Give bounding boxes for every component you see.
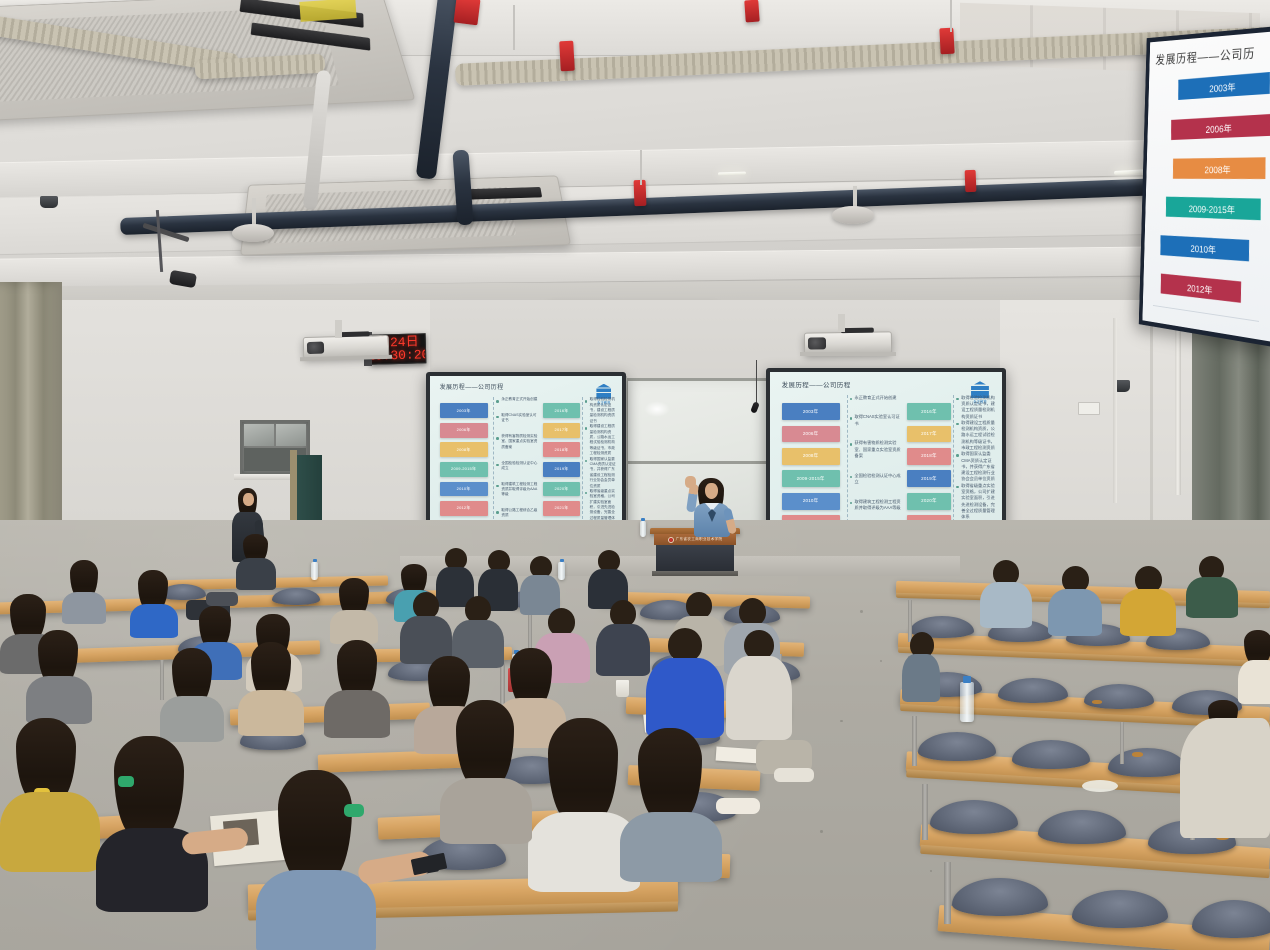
microphone-wire [756, 360, 757, 404]
floor-speckle [860, 610, 863, 613]
student [646, 628, 724, 738]
ceiling-fan-right[interactable] [832, 206, 874, 224]
student [236, 534, 276, 588]
desk-crumb [1132, 752, 1143, 757]
student [1048, 566, 1102, 636]
desk-leg [912, 716, 917, 766]
student [26, 630, 92, 722]
student [1238, 630, 1270, 700]
student [62, 560, 106, 622]
projector-mount-right [838, 314, 845, 332]
student-body [646, 658, 724, 738]
floor-speckle [880, 660, 882, 662]
student-body [0, 792, 100, 872]
slide-point: 取得检验检测机构资质认定证书，建设工程质量检测机构资质证书 [956, 395, 997, 420]
timeline-bar: 2009-2015年 [782, 470, 840, 487]
floor-speckle [820, 830, 823, 833]
assistant-face [243, 493, 254, 506]
student-body [902, 654, 940, 702]
student [324, 640, 390, 736]
pipe-clamp-red [965, 170, 977, 192]
bottle-cap [641, 518, 645, 521]
ceiling-fan-rod-left [252, 198, 256, 226]
wall-timeline-bar: 2012年 [1161, 274, 1241, 303]
litter-tissue [1082, 780, 1118, 792]
wall-timeline-bar: 2009-2015年 [1166, 197, 1261, 221]
slide-point: 取得建筑工程检测工程资质并取得评级为AAA等级 [850, 499, 903, 512]
timeline-bar: 2017年 [907, 426, 951, 443]
slide-left-bars: 2003年 2006年 2008年 2009-2015年 2010年 2012年 [440, 403, 488, 515]
slide-point: 取得省级重点实验室资格，公司扩建实验室面积，引进先进检测设备，完善全过程质量管理… [956, 483, 997, 521]
student [238, 642, 304, 734]
timeline-bar: 2006年 [782, 426, 840, 443]
slide-point: 取得国家认监委CMA资质认定证书，并获得广东省建设工程检测行业协会会员单位资质 [585, 457, 618, 489]
student [400, 592, 452, 664]
slide-point: 取得建筑工程检测工程资质并取得评级为AAA等级 [496, 482, 539, 498]
slide-point: 取得建设工程质量检测机构资质，公路水运工程试验检测机构等级证书，市政工程检测资质 [956, 420, 997, 451]
presenter-face [705, 483, 718, 499]
podium-body [656, 545, 734, 571]
projector-mount-left [335, 320, 342, 338]
desk-crumb [1092, 700, 1102, 704]
timeline-bar: 2020年 [907, 493, 951, 510]
pipe-clamp-red [559, 41, 575, 72]
student [130, 570, 178, 636]
paper-cup[interactable] [616, 680, 629, 697]
timeline-bar: 2009-2015年 [440, 462, 488, 477]
desk-leg [944, 862, 951, 924]
student-shoe [716, 798, 760, 814]
student [980, 560, 1032, 628]
timeline-bar: 2006年 [440, 423, 488, 438]
floor-speckle [840, 720, 843, 722]
student-body [1048, 589, 1102, 636]
pipe-hanger [640, 150, 642, 185]
slide-point: 获得有害物质检测实验室、国家重点实验室资质备案 [496, 434, 539, 450]
wall-conduit-left [1113, 318, 1117, 503]
timeline-bar: 2018年 [543, 442, 579, 457]
paper-sheet[interactable] [716, 746, 761, 763]
pipe-clamp-red [744, 0, 760, 22]
slide-point: 全国检验检测认证中心成立 [850, 473, 903, 486]
slide-point: 取得检验检测机构资质认定证书，建设工程质量检测机构资质证书 [585, 397, 618, 424]
slide-right-bars: 2016年 2017年 2018年 2019年 2020年 2021年 [543, 403, 579, 515]
timeline-bar: 2017年 [543, 423, 579, 438]
slide-left-points: 永正教育正式开始创建 取得CNAS实验室认可证书 获得有害物质检测实验室、国家重… [493, 397, 539, 519]
timeline-bar: 2016年 [543, 403, 579, 418]
pipe-clamp-red [939, 28, 954, 55]
student [726, 630, 792, 738]
projection-screen-left[interactable]: 发展历程——公司历程 永正教育 2003年 2006年 2008年 2009-2… [426, 372, 626, 532]
student-body [62, 592, 106, 624]
timeline-bar: 2008年 [782, 448, 840, 465]
timeline-bar: 2019年 [907, 470, 951, 487]
projector-cables [841, 327, 874, 333]
student [716, 788, 772, 828]
handbag[interactable] [206, 592, 238, 606]
student-hair [548, 718, 618, 822]
student [756, 740, 812, 784]
window-pane [276, 424, 306, 446]
projector-lens-icon [307, 341, 324, 354]
slide-point: 取得CNAS实验室认可证书 [850, 414, 903, 427]
wall-display-footer-line [1153, 305, 1259, 322]
presenter-at-podium [676, 478, 746, 540]
presenter-raised-hand [685, 476, 696, 488]
seat[interactable] [272, 588, 320, 605]
slide-point: 永正教育正式开始创建 [850, 395, 903, 401]
wall-display-title: 发展历程——公司历 [1155, 43, 1255, 68]
student [0, 718, 100, 868]
student-head [548, 608, 575, 636]
timeline-bar: 2008年 [440, 442, 488, 457]
student-body [1180, 718, 1270, 838]
student-head [465, 596, 491, 623]
student-hair [1244, 630, 1270, 664]
desk-leg [1120, 722, 1124, 764]
hair-clip-green [118, 776, 134, 787]
student-body [330, 610, 378, 644]
student-head [413, 592, 439, 619]
student-body [596, 624, 650, 676]
bottle-cap [963, 676, 971, 683]
student [1180, 718, 1270, 838]
ac-vent [460, 187, 542, 200]
student [620, 728, 722, 878]
slide-left: 发展历程——公司历程 永正教育 2003年 2006年 2008年 2009-2… [430, 376, 622, 528]
student-head [668, 628, 702, 662]
student-body [1120, 589, 1176, 636]
slide-left-points: 永正教育正式开始创建 取得CNAS实验室认可证书 获得有害物质检测实验室、国家重… [847, 395, 903, 538]
slide-point: 获得有害物质检测实验室、国家重点实验室资质备案 [850, 440, 903, 459]
motion-sensor-icon [40, 196, 58, 208]
podium-base [652, 571, 738, 576]
timeline-bar: 2012年 [440, 501, 488, 516]
timeline-bar: 2010年 [440, 482, 488, 497]
student-body [324, 690, 390, 738]
student-body [620, 812, 722, 882]
student [96, 736, 208, 906]
slide-left-bars: 2003年 2006年 2008年 2009-2015年 2010年 2012年 [782, 403, 840, 532]
wall-timeline-bar: 2006年 [1171, 114, 1270, 140]
slide-title: 发展历程——公司历程 [440, 382, 504, 391]
student [256, 770, 376, 950]
slide-point: 全国检验检测认证中心成立 [496, 461, 539, 472]
slide-right-points: 取得检验检测机构资质认定证书，建设工程质量检测机构资质证书 取得建设工程质量检测… [582, 397, 618, 519]
student [330, 578, 378, 642]
timeline-bar: 2003年 [782, 403, 840, 420]
wall-timeline-bar: 2003年 [1178, 72, 1270, 100]
projector-shelf-right [800, 352, 896, 356]
slide-right-points: 取得检验检测机构资质认定证书，建设工程质量检测机构资质证书 取得建设工程质量检测… [953, 395, 997, 538]
ceiling [0, 0, 1270, 330]
timeline-bar: 2018年 [907, 448, 951, 465]
slide-point: 取得CNAS实验室认可证书 [496, 413, 539, 424]
wall-timeline-bar: 2010年 [1160, 235, 1249, 261]
whiteboard-glare [644, 401, 670, 417]
student [440, 700, 532, 840]
timeline-bar: 2020年 [543, 482, 579, 497]
slide-title: 发展历程——公司历程 [782, 379, 851, 389]
university-crest-icon [668, 537, 674, 543]
timeline-bar: 2016年 [907, 403, 951, 420]
wall-outlet[interactable] [1078, 402, 1100, 415]
student-body [980, 582, 1032, 628]
wall-timeline-bar: 2008年 [1173, 157, 1266, 179]
student-body [726, 656, 792, 740]
student-head [610, 600, 636, 627]
student-shoe [774, 768, 814, 782]
student-head [686, 592, 712, 619]
student-body [1238, 660, 1270, 704]
student-body [1186, 577, 1238, 618]
student-body [238, 690, 304, 736]
timeline-bar: 2003年 [440, 403, 488, 418]
wall-display-surface: 发展历程——公司历 2003年 2006年 2008年 2009-2015年 2… [1142, 31, 1270, 342]
desk-leg [922, 784, 928, 840]
wall-display-bars: 2003年 2006年 2008年 2009-2015年 2010年 2012年 [1153, 73, 1270, 307]
student [520, 556, 560, 614]
student-hair [278, 770, 352, 882]
bottle-cap [560, 559, 564, 562]
timeline-bar: 2021年 [543, 501, 579, 516]
slide-point: 取得公路工程综合乙级资质 [496, 508, 539, 519]
slide-right-bars: 2016年 2017年 2018年 2019年 2020年 2021年 [907, 403, 951, 532]
classroom-scene: 发展历程——公司历程 永正教育 2003年 2006年 2008年 2009-2… [0, 0, 1270, 950]
pipe-hanger [513, 5, 515, 50]
window-pane [244, 424, 274, 446]
projector-lens-icon [808, 337, 825, 350]
water-bottle[interactable] [960, 682, 974, 722]
ceiling-fan-left[interactable] [232, 224, 274, 242]
wall-display-panel[interactable]: 发展历程——公司历 2003年 2006年 2008年 2009-2015年 2… [1139, 25, 1270, 347]
student [902, 632, 940, 702]
pipe-hanger [950, 0, 952, 32]
student-body [236, 558, 276, 590]
water-bottle[interactable] [640, 521, 646, 537]
student [596, 600, 650, 676]
whiteboard-divider [628, 461, 770, 464]
student-body [440, 778, 532, 844]
ceiling-fan-rod-right [853, 186, 857, 208]
floor-speckle [930, 870, 932, 872]
student-body [256, 870, 376, 950]
timeline-bar: 2019年 [543, 462, 579, 477]
water-bottle[interactable] [311, 562, 318, 580]
student-body [26, 676, 92, 724]
student [1186, 556, 1238, 618]
student-hair [638, 728, 702, 820]
student [160, 648, 224, 740]
student-body [130, 604, 178, 638]
timeline-bar: 2010年 [782, 493, 840, 510]
slide-point: 永正教育正式开始创建 [496, 397, 539, 402]
student-head [739, 598, 766, 626]
hair-clip-green [344, 804, 364, 817]
student [1120, 566, 1176, 636]
pipe-clamp-red [454, 0, 481, 25]
bottle-cap [313, 559, 317, 562]
slide-point: 取得建设工程质量检测机构资质，公路水运工程试验检测机构等级证书，市政工程检测资质 [585, 424, 618, 456]
student-hair [114, 736, 184, 838]
slide-point: 取得国家认监委CMA资质认定证书，并获得广东省建设工程检测行业协会会员单位资质 [956, 451, 997, 482]
student-hair [456, 700, 514, 786]
